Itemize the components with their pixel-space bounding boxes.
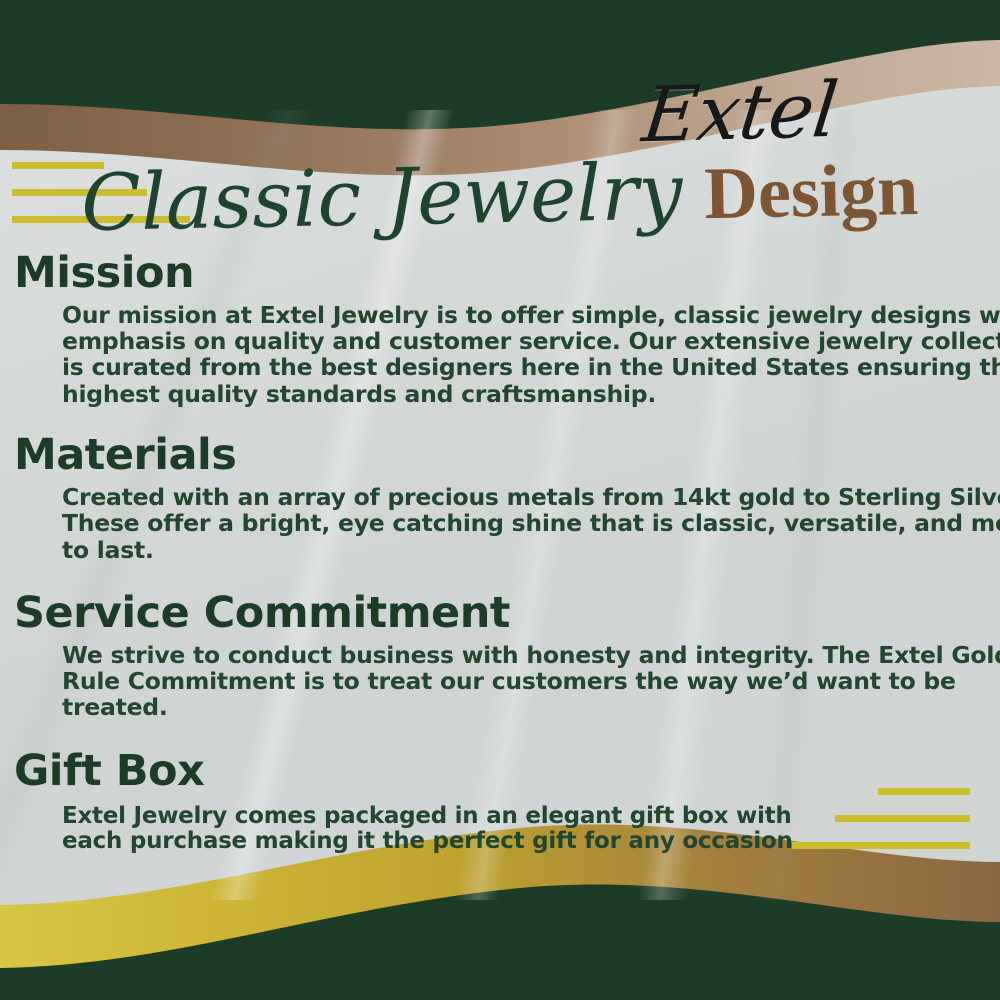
section-mission: Mission Our mission at Extel Jewelry is … bbox=[0, 252, 1000, 407]
content-sections: Mission Our mission at Extel Jewelry is … bbox=[0, 252, 1000, 855]
body-line: These offer a bright, eye catching shine… bbox=[62, 510, 976, 536]
section-title-gift-box: Gift Box bbox=[0, 750, 1000, 794]
body-line: highest quality standards and craftsmans… bbox=[62, 381, 976, 407]
body-line: Created with an array of precious metals… bbox=[62, 484, 976, 510]
section-body-mission: Our mission at Extel Jewelry is to offer… bbox=[0, 296, 1000, 407]
section-body-service-commitment: We strive to conduct business with hones… bbox=[0, 636, 1000, 721]
gold-rule-6 bbox=[792, 842, 970, 849]
body-line: is curated from the best designers here … bbox=[62, 354, 976, 380]
section-title-mission: Mission bbox=[0, 252, 1000, 296]
section-gift-box: Gift Box Extel Jewelry comes packaged in… bbox=[0, 750, 1000, 855]
body-line: treated. bbox=[62, 694, 976, 720]
section-body-materials: Created with an array of precious metals… bbox=[0, 478, 1000, 563]
poster-canvas: Extel Classic Jewelry Design Mission Our… bbox=[0, 0, 1000, 1000]
gold-rule-4 bbox=[878, 788, 970, 795]
body-line: to last. bbox=[62, 537, 976, 563]
section-service-commitment: Service Commitment We strive to conduct … bbox=[0, 592, 1000, 721]
section-title-service-commitment: Service Commitment bbox=[0, 592, 1000, 636]
brand-logo-extel: Extel bbox=[639, 72, 841, 154]
page-title-script-part: Classic Jewelry bbox=[81, 154, 684, 244]
body-line: We strive to conduct business with hones… bbox=[62, 642, 976, 668]
body-line: emphasis on quality and customer service… bbox=[62, 328, 976, 354]
section-materials: Materials Created with an array of preci… bbox=[0, 434, 1000, 563]
section-title-materials: Materials bbox=[0, 434, 1000, 478]
gold-rule-5 bbox=[835, 815, 970, 822]
body-line: Our mission at Extel Jewelry is to offer… bbox=[62, 302, 976, 328]
page-title-serif-part: Design bbox=[704, 153, 919, 231]
body-line: Rule Commitment is to treat our customer… bbox=[62, 668, 976, 694]
